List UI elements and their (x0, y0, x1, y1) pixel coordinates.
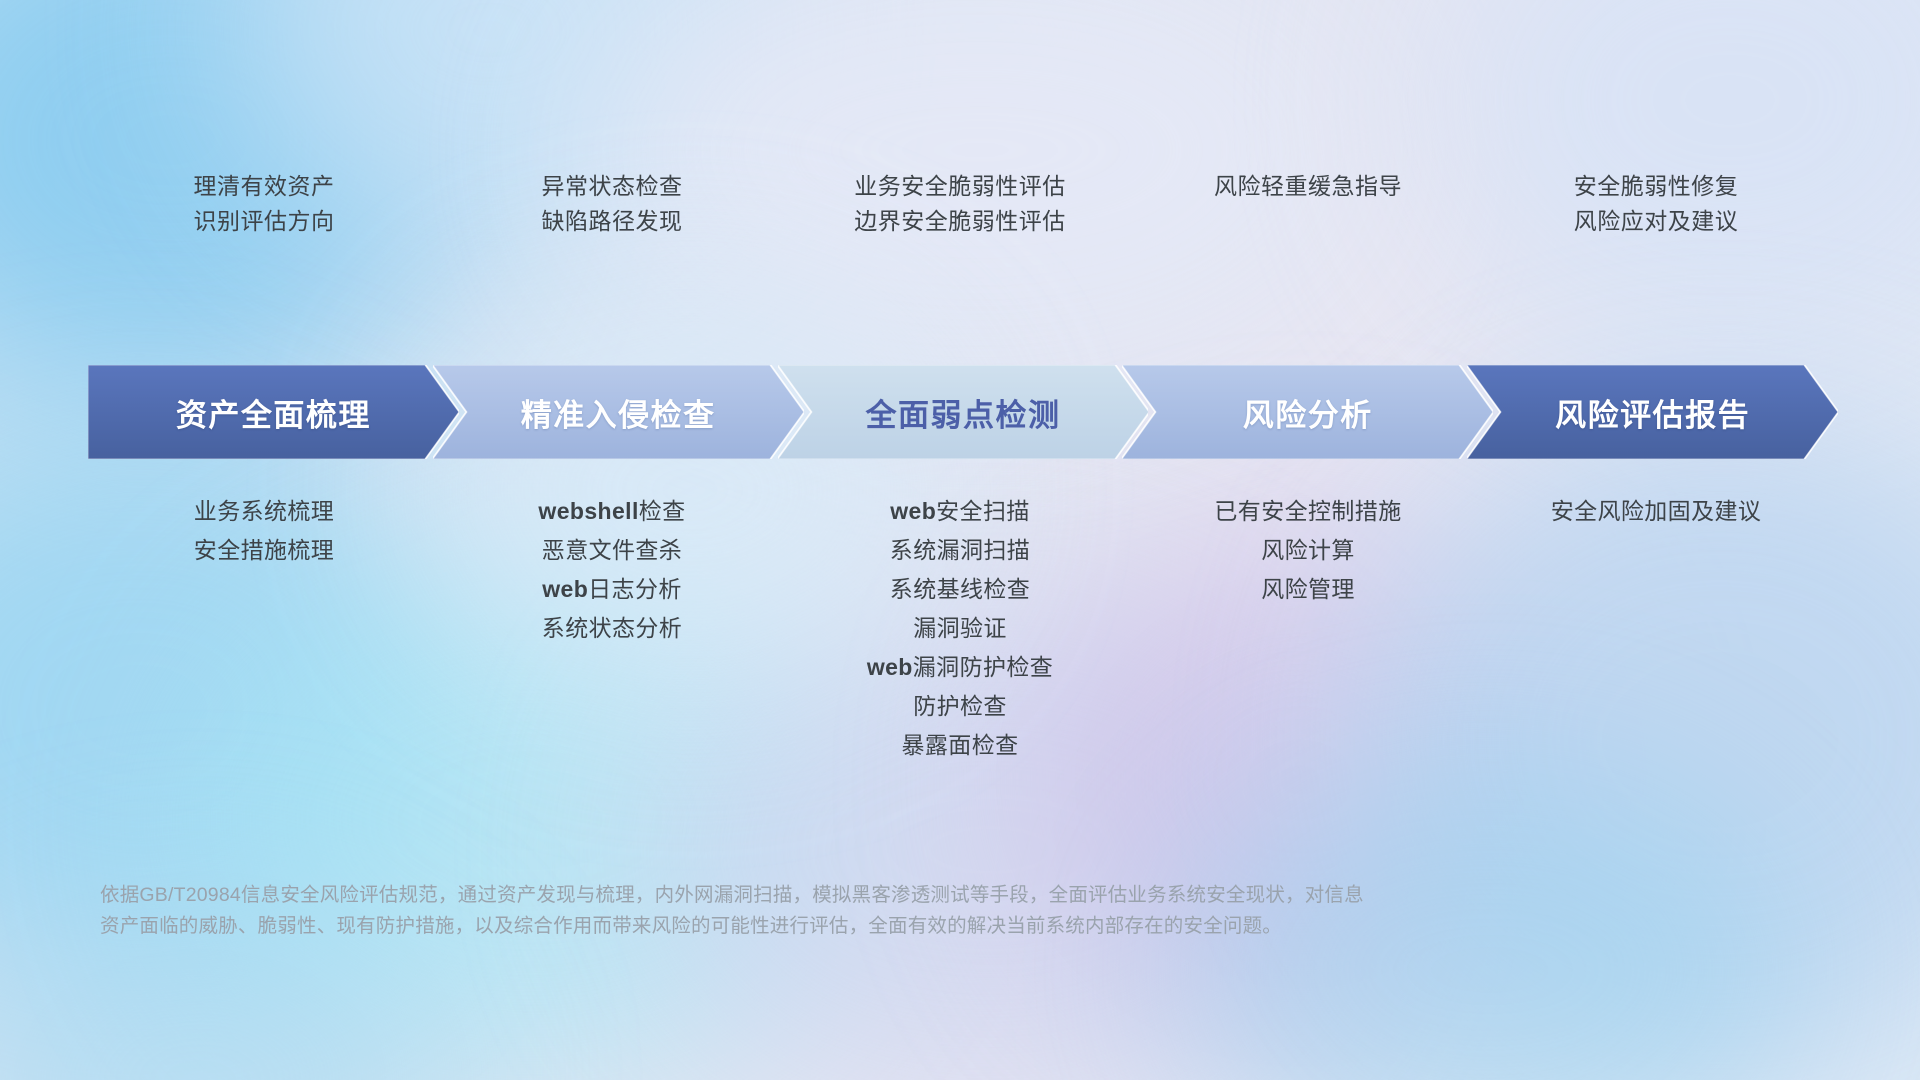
stage-chevron-3[interactable]: 全面弱点检测 (778, 365, 1149, 459)
stage-input-item: 异常状态检查 (542, 175, 683, 198)
detail-latin-part: webshell (538, 498, 638, 524)
stage-details-column: 已有安全控制措施风险计算风险管理 (1134, 470, 1482, 601)
stage-detail-item: 安全风险加固及建议 (1551, 500, 1762, 523)
stage-chevron-label: 资产全面梳理 (176, 390, 371, 435)
detail-cn-part: 系统漏洞扫描 (890, 537, 1030, 563)
detail-latin-part: web (890, 498, 936, 524)
stage-detail-item: web安全扫描 (890, 500, 1030, 523)
stage-chevron-label: 全面弱点检测 (865, 390, 1060, 435)
detail-latin-part: web (867, 654, 913, 680)
detail-cn-part: 风险计算 (1261, 537, 1355, 563)
stage-input-item: 边界安全脆弱性评估 (854, 210, 1066, 233)
stage-detail-item: 漏洞验证 (913, 617, 1007, 640)
stage-detail-item: 系统基线检查 (890, 578, 1030, 601)
stage-chevron-row: 资产全面梳理精准入侵检查全面弱点检测风险分析风险评估报告 (88, 365, 1838, 459)
stage-detail-item: 风险计算 (1261, 539, 1355, 562)
stage-inputs-column: 风险轻重缓急指导 (1134, 175, 1482, 285)
stage-details-column: web安全扫描系统漏洞扫描系统基线检查漏洞验证web漏洞防护检查防护检查暴露面检… (786, 470, 1134, 757)
detail-cn-part: 日志分析 (588, 576, 682, 602)
stage-details-row: 业务系统梳理安全措施梳理webshell检查恶意文件查杀web日志分析系统状态分… (90, 470, 1830, 757)
stage-chevron-label: 风险评估报告 (1555, 390, 1750, 435)
stage-details-column: 安全风险加固及建议 (1482, 470, 1830, 523)
stage-detail-item: 系统状态分析 (542, 617, 682, 640)
stage-input-item: 业务安全脆弱性评估 (854, 175, 1066, 198)
stage-input-item: 缺陷路径发现 (542, 210, 683, 233)
stage-chevron-2[interactable]: 精准入侵检查 (433, 365, 804, 459)
detail-cn-part: 防护检查 (913, 693, 1007, 719)
stage-inputs-column: 业务安全脆弱性评估边界安全脆弱性评估 (786, 175, 1134, 285)
stage-details-column: webshell检查恶意文件查杀web日志分析系统状态分析 (438, 470, 786, 640)
stage-input-item: 识别评估方向 (194, 210, 335, 233)
stage-chevron-4[interactable]: 风险分析 (1122, 365, 1493, 459)
stage-chevron-label: 精准入侵检查 (521, 390, 716, 435)
stage-detail-item: 风险管理 (1261, 578, 1355, 601)
stage-details-column: 业务系统梳理安全措施梳理 (90, 470, 438, 562)
footer-line-1: 依据GB/T20984信息安全风险评估规范，通过资产发现与梳理，内外网漏洞扫描，… (100, 880, 1630, 911)
stage-chevron-1[interactable]: 资产全面梳理 (88, 365, 459, 459)
stage-detail-item: 安全措施梳理 (194, 539, 334, 562)
footer-description: 依据GB/T20984信息安全风险评估规范，通过资产发现与梳理，内外网漏洞扫描，… (100, 880, 1630, 942)
detail-cn-part: 安全风险加固及建议 (1551, 498, 1762, 524)
detail-cn-part: 风险管理 (1261, 576, 1355, 602)
stage-chevron-5[interactable]: 风险评估报告 (1467, 365, 1838, 459)
detail-cn-part: 恶意文件查杀 (542, 537, 682, 563)
stage-inputs-column: 安全脆弱性修复风险应对及建议 (1482, 175, 1830, 285)
stage-inputs-column: 理清有效资产识别评估方向 (90, 175, 438, 285)
detail-latin-part: web (542, 576, 588, 602)
stage-detail-item: 系统漏洞扫描 (890, 539, 1030, 562)
stage-inputs-column: 异常状态检查缺陷路径发现 (438, 175, 786, 285)
process-flow-diagram: 理清有效资产识别评估方向异常状态检查缺陷路径发现业务安全脆弱性评估边界安全脆弱性… (0, 0, 1920, 1080)
stage-detail-item: web漏洞防护检查 (867, 656, 1053, 679)
stage-detail-item: web日志分析 (542, 578, 682, 601)
stage-detail-item: 恶意文件查杀 (542, 539, 682, 562)
detail-cn-part: 漏洞防护检查 (913, 654, 1053, 680)
stage-chevron-label: 风险分析 (1243, 390, 1373, 435)
detail-cn-part: 安全扫描 (936, 498, 1030, 524)
detail-cn-part: 漏洞验证 (913, 615, 1007, 641)
detail-cn-part: 安全措施梳理 (194, 537, 334, 563)
stage-inputs-row: 理清有效资产识别评估方向异常状态检查缺陷路径发现业务安全脆弱性评估边界安全脆弱性… (90, 175, 1830, 285)
detail-cn-part: 系统状态分析 (542, 615, 682, 641)
detail-cn-part: 系统基线检查 (890, 576, 1030, 602)
stage-input-item: 风险应对及建议 (1574, 210, 1739, 233)
stage-input-item: 理清有效资产 (194, 175, 335, 198)
stage-input-item: 风险轻重缓急指导 (1214, 175, 1402, 198)
detail-cn-part: 检查 (639, 498, 686, 524)
stage-detail-item: 已有安全控制措施 (1214, 500, 1401, 523)
stage-detail-item: 防护检查 (913, 695, 1007, 718)
detail-cn-part: 暴露面检查 (902, 732, 1019, 758)
detail-cn-part: 已有安全控制措施 (1214, 498, 1401, 524)
footer-line-2: 资产面临的威胁、脆弱性、现有防护措施，以及综合作用而带来风险的可能性进行评估，全… (100, 911, 1630, 942)
stage-detail-item: webshell检查 (538, 500, 685, 523)
stage-detail-item: 暴露面检查 (902, 734, 1019, 757)
stage-input-item: 安全脆弱性修复 (1574, 175, 1739, 198)
detail-cn-part: 业务系统梳理 (194, 498, 334, 524)
stage-detail-item: 业务系统梳理 (194, 500, 334, 523)
